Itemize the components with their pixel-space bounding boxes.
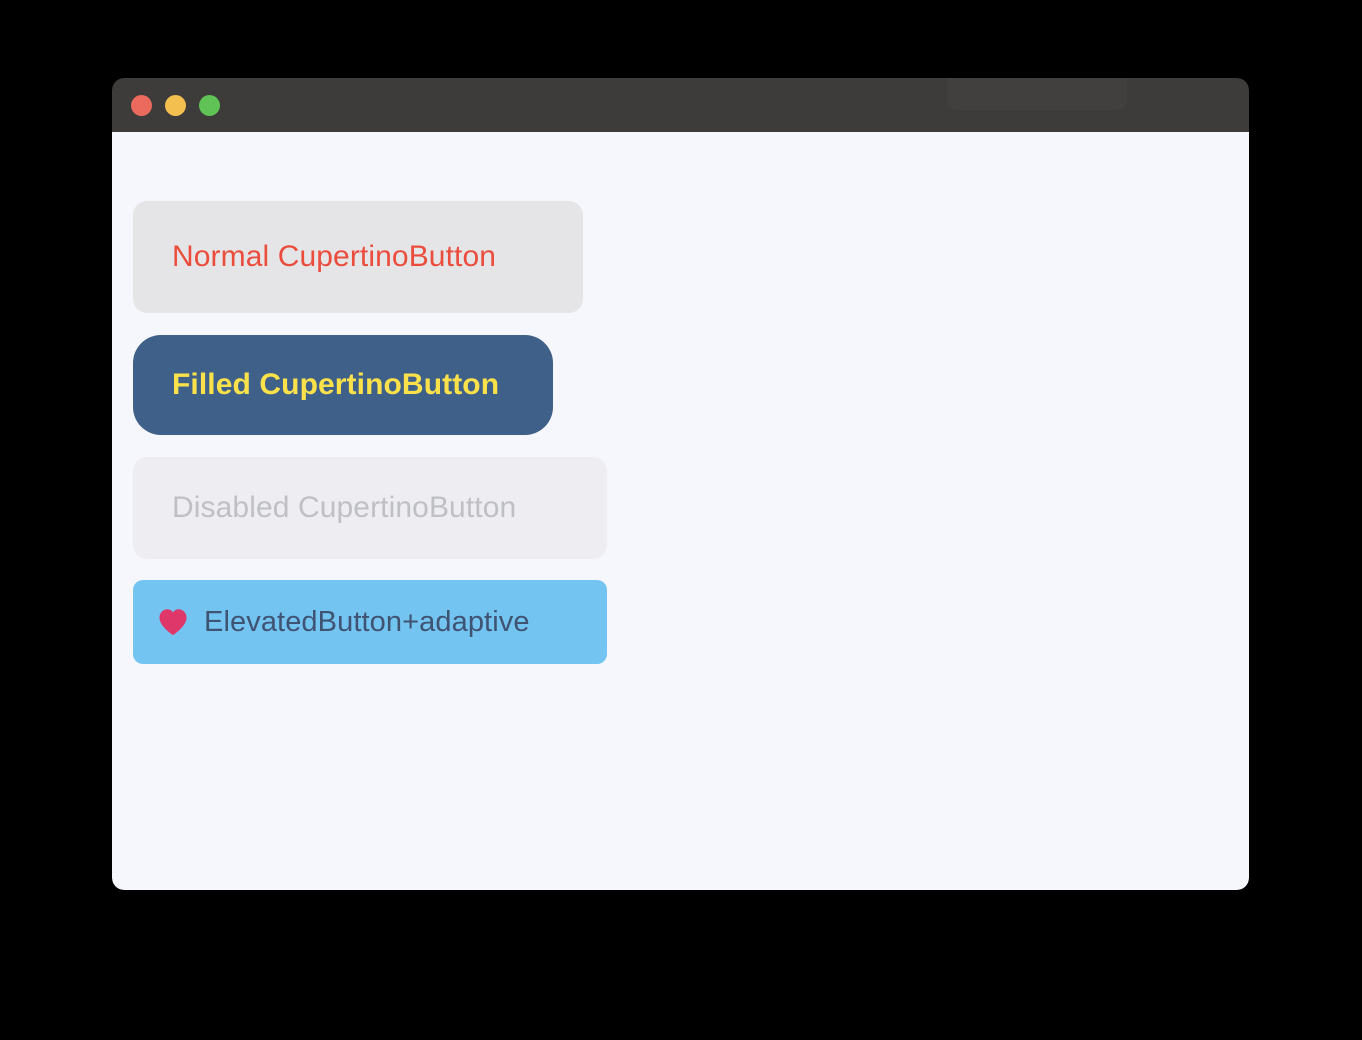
elevated-button-adaptive-label: ElevatedButton+adaptive <box>204 606 530 639</box>
filled-cupertino-button[interactable]: Filled CupertinoButton <box>133 335 553 435</box>
disabled-cupertino-button: Disabled CupertinoButton <box>133 457 607 559</box>
normal-cupertino-button[interactable]: Normal CupertinoButton <box>133 201 583 313</box>
app-window: Normal CupertinoButton Filled CupertinoB… <box>112 78 1249 890</box>
normal-cupertino-button-label: Normal CupertinoButton <box>172 240 496 274</box>
disabled-cupertino-button-label: Disabled CupertinoButton <box>172 491 516 525</box>
elevated-button-adaptive[interactable]: ElevatedButton+adaptive <box>133 580 607 664</box>
titlebar-highlight <box>947 78 1127 110</box>
filled-cupertino-button-label: Filled CupertinoButton <box>172 368 499 402</box>
window-content: Normal CupertinoButton Filled CupertinoB… <box>112 132 1249 890</box>
heart-icon <box>158 608 188 636</box>
traffic-light-group <box>131 95 220 116</box>
close-window-button[interactable] <box>131 95 152 116</box>
screen-root: Normal CupertinoButton Filled CupertinoB… <box>0 0 1362 1040</box>
zoom-window-button[interactable] <box>199 95 220 116</box>
minimize-window-button[interactable] <box>165 95 186 116</box>
window-titlebar <box>112 78 1249 132</box>
